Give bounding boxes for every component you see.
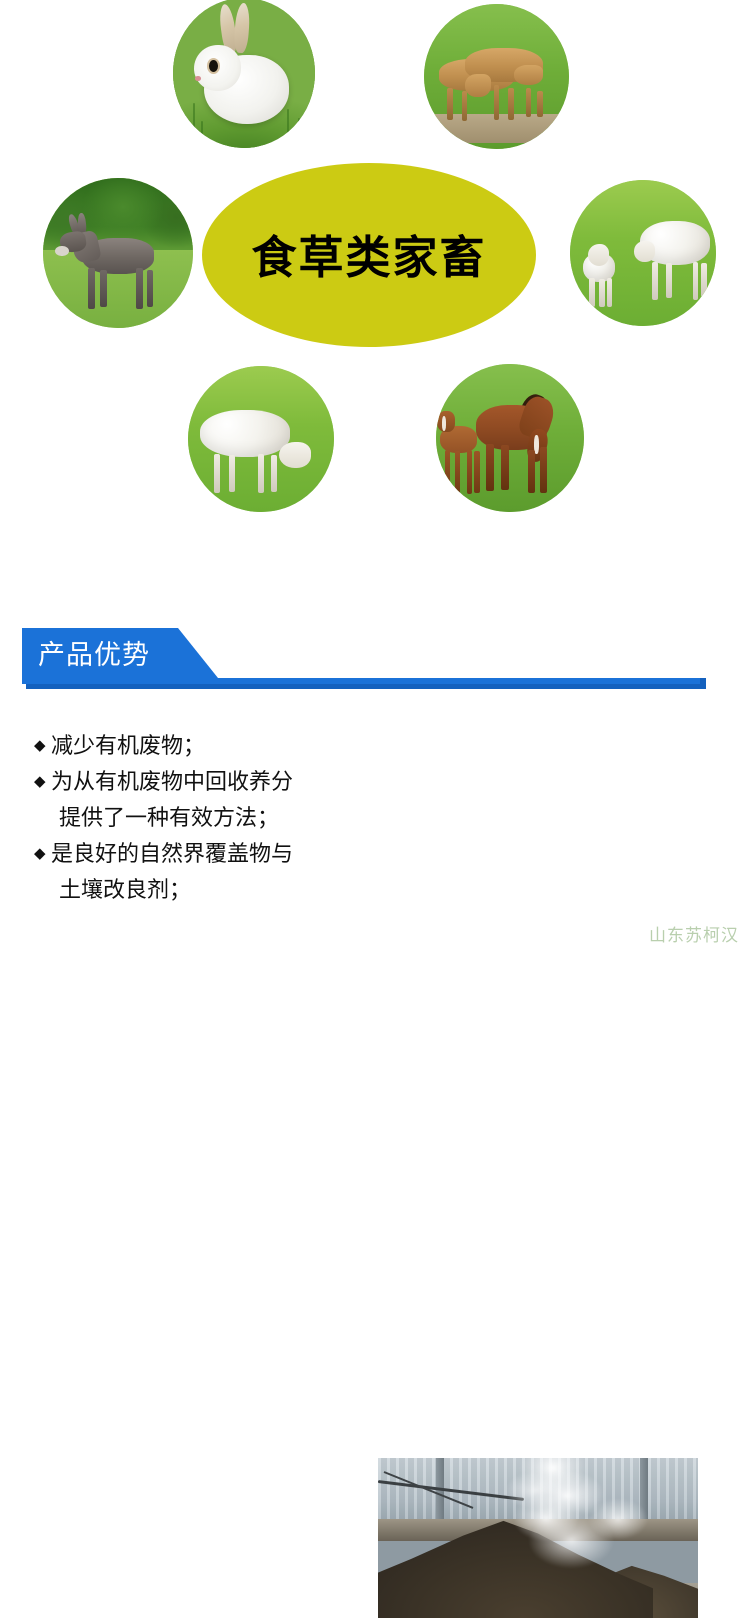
list-item: ◆ 为从有机废物中回收养分 <box>34 764 364 800</box>
rabbit-ear-icon <box>234 2 252 52</box>
cow-head <box>514 65 543 85</box>
banner-bar-lower <box>26 684 705 689</box>
list-item-text: 提供了一种有效方法； <box>51 800 279 836</box>
rabbit-nose <box>195 76 201 81</box>
sheep-grazing-scene <box>188 366 334 512</box>
cow-head <box>465 74 491 97</box>
section-title: 产品优势 <box>38 634 150 676</box>
horse-scene <box>436 364 584 512</box>
list-item-text: 土壤改良剂； <box>51 872 191 908</box>
lamb-head <box>588 244 610 266</box>
donkey-muzzle <box>55 246 69 257</box>
photo-circle-sheep-lamb <box>570 180 716 326</box>
section-banner-product-advantages: 产品优势 <box>0 620 751 700</box>
diamond-bullet-icon: ◆ <box>34 836 51 872</box>
compost-pile-photo <box>378 1458 698 1618</box>
list-item-text: 是良好的自然界覆盖物与 <box>51 836 293 872</box>
photo-circle-sheep-grazing <box>188 366 334 512</box>
banner-bar-notch <box>700 678 706 689</box>
list-item-continuation: ◆ 土壤改良剂； <box>34 872 364 908</box>
list-item: ◆ 是良好的自然界覆盖物与 <box>34 836 364 872</box>
steam-wisp <box>576 1487 659 1551</box>
watermark-text: 山东苏柯汉 <box>649 921 739 946</box>
sheep-body <box>200 410 291 457</box>
diamond-bullet-icon: ◆ <box>34 728 51 764</box>
photo-circle-horse <box>436 364 584 512</box>
center-category-title: 食草类家畜 <box>251 235 486 280</box>
list-item-continuation: ◆ 提供了一种有效方法； <box>34 800 364 836</box>
center-category-ellipse: 食草类家畜 <box>202 163 536 347</box>
list-item: ◆ 减少有机废物； <box>34 728 364 764</box>
sheep-head <box>279 442 311 468</box>
advantages-bullet-list: ◆ 减少有机废物； ◆ 为从有机废物中回收养分 ◆ 提供了一种有效方法； ◆ 是… <box>34 728 364 908</box>
ewe-head <box>634 241 654 261</box>
photo-circle-cattle <box>424 4 569 149</box>
photo-circle-donkey <box>43 178 193 328</box>
diamond-bullet-icon: ◆ <box>34 764 51 800</box>
rabbit-scene <box>173 0 315 148</box>
donkey-scene <box>43 178 193 328</box>
foal-head <box>437 411 455 432</box>
herbivore-livestock-infographic: 食草类家畜 <box>0 0 751 560</box>
sheep-lamb-scene <box>570 180 716 326</box>
list-item-text: 为从有机废物中回收养分 <box>51 764 293 800</box>
list-item-text: 减少有机废物； <box>51 728 205 764</box>
advantages-section: ◆ 减少有机废物； ◆ 为从有机废物中回收养分 ◆ 提供了一种有效方法； ◆ 是… <box>0 718 751 928</box>
cattle-scene <box>424 4 569 149</box>
photo-circle-rabbit <box>173 0 315 148</box>
